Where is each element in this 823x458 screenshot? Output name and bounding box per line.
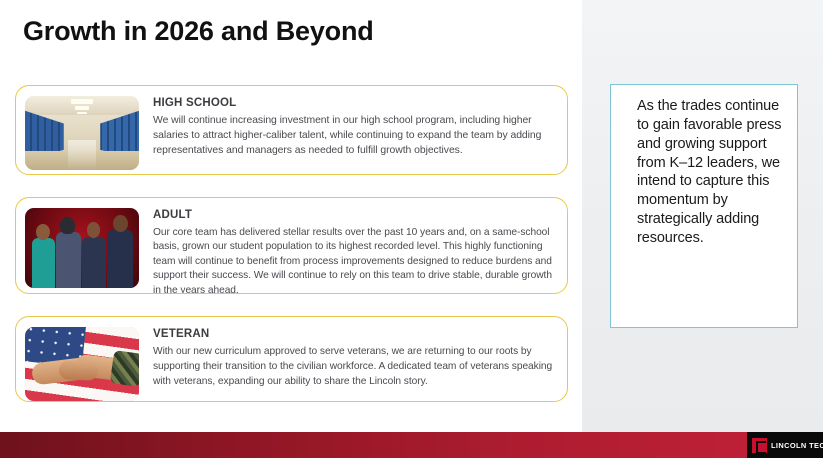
card-title-veteran: VETERAN	[153, 328, 557, 340]
footer-bar: LINCOLN TECH	[0, 432, 823, 458]
card-body: HIGH SCHOOL We will continue increasing …	[139, 94, 557, 158]
veteran-handshake-flag-photo	[25, 327, 139, 401]
lincoln-tech-mark-icon	[752, 438, 767, 453]
lincoln-tech-logo-text: LINCOLN TECH	[771, 441, 823, 450]
lincoln-tech-logo: LINCOLN TECH	[747, 432, 823, 458]
card-text-high-school: We will continue increasing investment i…	[153, 114, 557, 158]
program-card-adult[interactable]: ADULT Our core team has delivered stella…	[15, 197, 568, 294]
card-title-adult: ADULT	[153, 209, 557, 221]
callout-quote-text: As the trades continue to gain favorable…	[637, 97, 785, 248]
school-hallway-lockers-photo	[25, 96, 139, 170]
card-body: VETERAN With our new curriculum approved…	[139, 325, 557, 389]
card-body: ADULT Our core team has delivered stella…	[139, 206, 557, 294]
program-card-high-school[interactable]: HIGH SCHOOL We will continue increasing …	[15, 85, 568, 175]
card-title-high-school: HIGH SCHOOL	[153, 97, 557, 109]
slide-canvas: Growth in 2026 and Beyond HIGH SCHOOL We…	[0, 0, 823, 458]
card-text-veteran: With our new curriculum approved to serv…	[153, 345, 557, 389]
program-card-veteran[interactable]: VETERAN With our new curriculum approved…	[15, 316, 568, 402]
callout-quote-box: As the trades continue to gain favorable…	[610, 84, 798, 328]
page-title: Growth in 2026 and Beyond	[23, 16, 374, 47]
card-text-adult: Our core team has delivered stellar resu…	[153, 226, 557, 294]
adult-trade-students-photo	[25, 208, 139, 288]
